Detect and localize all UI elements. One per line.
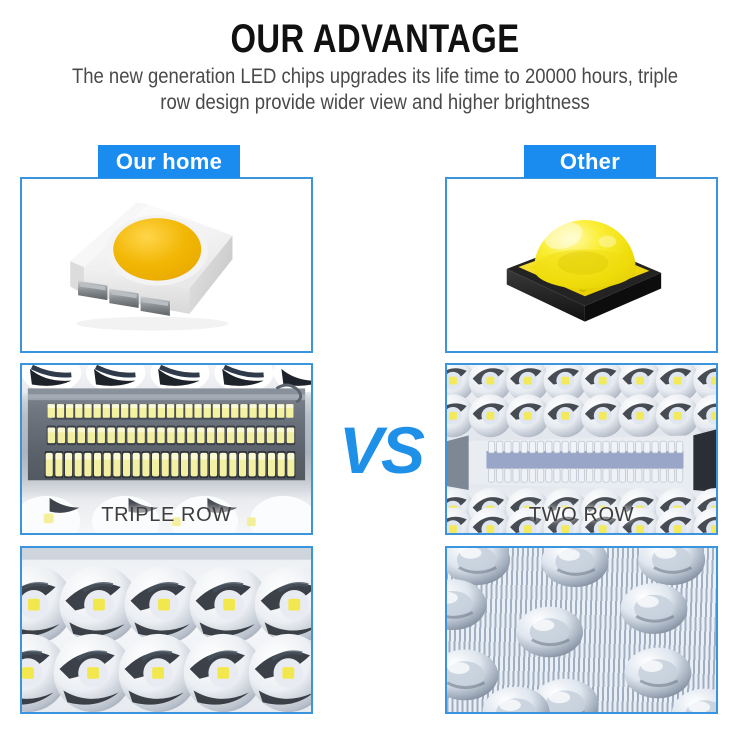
badge-our-home: Our home (98, 145, 240, 178)
panel-two-row: TWO ROW (445, 363, 718, 535)
panel-our-reflectors (20, 546, 313, 714)
badge-other: Other (524, 145, 656, 178)
smd-led-chip-white-package-image (22, 179, 311, 351)
panel-other-chip (445, 177, 718, 353)
caption-triple-row: TRIPLE ROW (22, 504, 311, 527)
reflector-mesh-surface-image (447, 548, 716, 712)
page-title: OUR ADVANTAGE (68, 18, 683, 60)
reflector-cups-two-rows-image (22, 548, 311, 712)
dome-led-chip-black-substrate-image (447, 179, 716, 351)
infographic-canvas: OUR ADVANTAGE The new generation LED chi… (0, 0, 750, 750)
panel-other-reflectors (445, 546, 718, 714)
panel-triple-row: TRIPLE ROW (20, 363, 313, 535)
caption-two-row: TWO ROW (447, 504, 716, 527)
vs-label: VS (321, 412, 441, 488)
two-row-led-board-image: TWO ROW (447, 365, 716, 533)
page-subtitle: The new generation LED chips upgrades it… (64, 64, 685, 116)
triple-row-led-board-image: TRIPLE ROW (22, 365, 311, 533)
panel-our-chip (20, 177, 313, 353)
